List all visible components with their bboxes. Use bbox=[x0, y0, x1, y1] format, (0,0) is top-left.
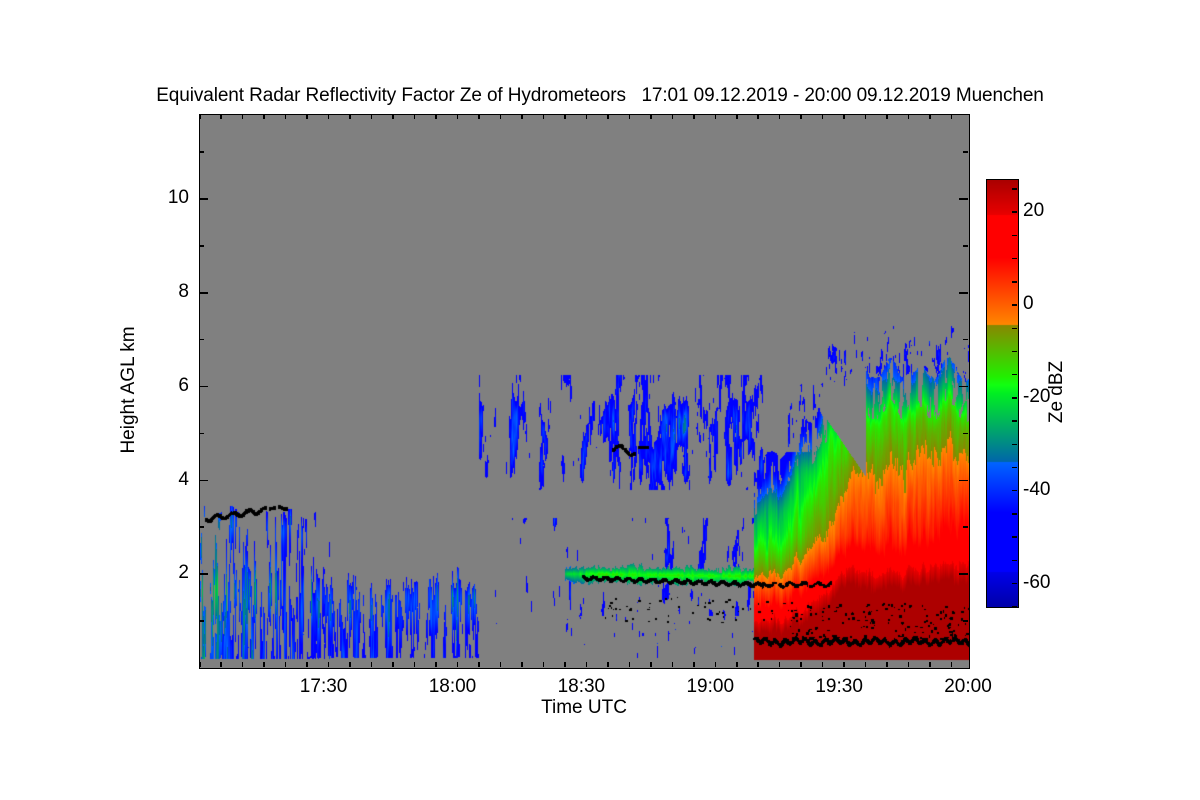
colorbar-tick bbox=[1012, 467, 1017, 469]
x-tick-top bbox=[822, 114, 824, 119]
x-tick bbox=[607, 662, 609, 667]
x-tick bbox=[199, 662, 201, 667]
colorbar-tick bbox=[1012, 536, 1017, 538]
x-tick-top bbox=[843, 114, 845, 119]
x-tick-label: 18:00 bbox=[429, 676, 477, 698]
x-tick-top bbox=[865, 114, 867, 119]
x-tick-label: 20:00 bbox=[944, 676, 992, 698]
x-tick bbox=[822, 662, 824, 667]
y-tick-right bbox=[963, 620, 968, 622]
y-tick-right bbox=[963, 151, 968, 153]
x-tick bbox=[929, 662, 931, 667]
x-tick bbox=[392, 662, 394, 667]
colorbar-tick-label: 0 bbox=[1023, 293, 1034, 315]
y-tick-right bbox=[959, 386, 968, 388]
x-tick-top bbox=[349, 114, 351, 119]
x-tick bbox=[478, 662, 480, 667]
x-tick-top bbox=[886, 114, 888, 119]
y-tick-label: 2 bbox=[161, 562, 189, 584]
colorbar-tick-label: -40 bbox=[1023, 479, 1050, 501]
x-tick-top bbox=[306, 114, 308, 119]
y-tick-label: 10 bbox=[161, 187, 189, 209]
x-tick-top bbox=[757, 114, 759, 119]
x-tick bbox=[672, 662, 674, 667]
x-tick bbox=[908, 662, 910, 667]
x-tick-top bbox=[543, 114, 545, 119]
x-tick bbox=[736, 662, 738, 667]
y-tick-label: 6 bbox=[161, 375, 189, 397]
x-tick-top bbox=[199, 114, 201, 119]
x-tick-top bbox=[736, 114, 738, 119]
x-tick-label: 18:30 bbox=[558, 676, 606, 698]
x-tick bbox=[263, 662, 265, 667]
x-tick bbox=[715, 662, 717, 667]
colorbar-tick bbox=[1012, 258, 1017, 260]
colorbar-tick bbox=[1012, 444, 1017, 446]
x-tick-top bbox=[414, 114, 416, 119]
y-tick bbox=[199, 526, 204, 528]
page-title: Equivalent Radar Reflectivity Factor Ze … bbox=[0, 85, 1200, 107]
x-tick bbox=[435, 662, 437, 667]
x-tick bbox=[800, 662, 802, 667]
x-tick bbox=[779, 662, 781, 667]
x-tick-label: 19:00 bbox=[686, 676, 734, 698]
colorbar-tick bbox=[1012, 583, 1017, 585]
x-tick-top bbox=[392, 114, 394, 119]
x-tick bbox=[865, 662, 867, 667]
x-tick bbox=[521, 662, 523, 667]
x-tick bbox=[586, 662, 588, 667]
x-tick-label: 19:30 bbox=[815, 676, 863, 698]
colorbar bbox=[986, 179, 1019, 608]
radar-time-height-plot bbox=[199, 114, 970, 669]
x-tick-top bbox=[285, 114, 287, 119]
colorbar-tick bbox=[1012, 513, 1017, 515]
colorbar-tick-label: 20 bbox=[1023, 200, 1044, 222]
y-tick bbox=[199, 386, 208, 388]
x-tick-top bbox=[929, 114, 931, 119]
y-tick-label: 8 bbox=[161, 281, 189, 303]
x-tick bbox=[843, 662, 845, 667]
colorbar-tick bbox=[1012, 420, 1017, 422]
x-tick-top bbox=[500, 114, 502, 119]
y-tick-right bbox=[959, 198, 968, 200]
x-tick bbox=[220, 662, 222, 667]
colorbar-tick bbox=[1012, 606, 1017, 608]
x-tick bbox=[951, 662, 953, 667]
y-tick bbox=[199, 151, 204, 153]
colorbar-tick bbox=[1012, 560, 1017, 562]
x-tick-label: 17:30 bbox=[300, 676, 348, 698]
y-tick-right bbox=[959, 292, 968, 294]
x-tick-top bbox=[908, 114, 910, 119]
colorbar-tick-label: -60 bbox=[1023, 572, 1050, 594]
x-tick bbox=[693, 662, 695, 667]
y-tick bbox=[199, 433, 204, 435]
x-tick-top bbox=[564, 114, 566, 119]
colorbar-tick bbox=[1012, 328, 1017, 330]
x-tick-top bbox=[521, 114, 523, 119]
x-tick-top bbox=[650, 114, 652, 119]
y-tick-right bbox=[963, 245, 968, 247]
x-tick-top bbox=[672, 114, 674, 119]
x-tick bbox=[650, 662, 652, 667]
x-axis-label: Time UTC bbox=[0, 697, 1168, 719]
x-tick-top bbox=[457, 114, 459, 119]
x-tick-top bbox=[371, 114, 373, 119]
y-tick-right bbox=[963, 433, 968, 435]
x-tick bbox=[371, 662, 373, 667]
colorbar-tick bbox=[1012, 374, 1017, 376]
x-tick-top bbox=[435, 114, 437, 119]
x-tick bbox=[457, 662, 459, 667]
colorbar-gradient-canvas bbox=[987, 180, 1018, 607]
y-tick-right bbox=[959, 573, 968, 575]
x-tick-top bbox=[263, 114, 265, 119]
colorbar-tick bbox=[1012, 211, 1017, 213]
x-tick-top bbox=[800, 114, 802, 119]
y-tick bbox=[199, 198, 208, 200]
x-tick-top bbox=[586, 114, 588, 119]
y-tick bbox=[199, 245, 204, 247]
y-tick bbox=[199, 292, 208, 294]
x-tick-top bbox=[242, 114, 244, 119]
x-tick-top bbox=[478, 114, 480, 119]
x-tick bbox=[886, 662, 888, 667]
x-tick bbox=[285, 662, 287, 667]
colorbar-tick bbox=[1012, 235, 1017, 237]
x-tick bbox=[242, 662, 244, 667]
y-axis-label: Height AGL km bbox=[118, 326, 140, 453]
x-tick bbox=[349, 662, 351, 667]
colorbar-tick bbox=[1012, 304, 1017, 306]
x-tick-top bbox=[328, 114, 330, 119]
x-tick bbox=[629, 662, 631, 667]
x-tick-top bbox=[779, 114, 781, 119]
reflectivity-heatmap-canvas bbox=[200, 115, 969, 668]
x-tick-top bbox=[629, 114, 631, 119]
x-tick-top bbox=[951, 114, 953, 119]
y-tick-label: 4 bbox=[161, 469, 189, 491]
y-tick bbox=[199, 339, 204, 341]
x-tick-top bbox=[607, 114, 609, 119]
y-tick-right bbox=[959, 480, 968, 482]
x-tick bbox=[306, 662, 308, 667]
x-tick-top bbox=[693, 114, 695, 119]
y-tick-right bbox=[963, 526, 968, 528]
colorbar-tick bbox=[1012, 490, 1017, 492]
y-tick bbox=[199, 620, 204, 622]
figure-root: Equivalent Radar Reflectivity Factor Ze … bbox=[0, 0, 1200, 800]
colorbar-tick bbox=[1012, 397, 1017, 399]
colorbar-label: Ze dBZ bbox=[1046, 361, 1068, 423]
x-tick bbox=[414, 662, 416, 667]
y-tick bbox=[199, 480, 208, 482]
x-tick-top bbox=[220, 114, 222, 119]
colorbar-tick bbox=[1012, 188, 1017, 190]
y-tick bbox=[199, 573, 208, 575]
x-tick bbox=[500, 662, 502, 667]
x-tick bbox=[328, 662, 330, 667]
y-tick-right bbox=[963, 339, 968, 341]
x-tick bbox=[543, 662, 545, 667]
x-tick bbox=[757, 662, 759, 667]
colorbar-tick bbox=[1012, 281, 1017, 283]
x-tick bbox=[564, 662, 566, 667]
x-tick-top bbox=[715, 114, 717, 119]
colorbar-tick bbox=[1012, 351, 1017, 353]
